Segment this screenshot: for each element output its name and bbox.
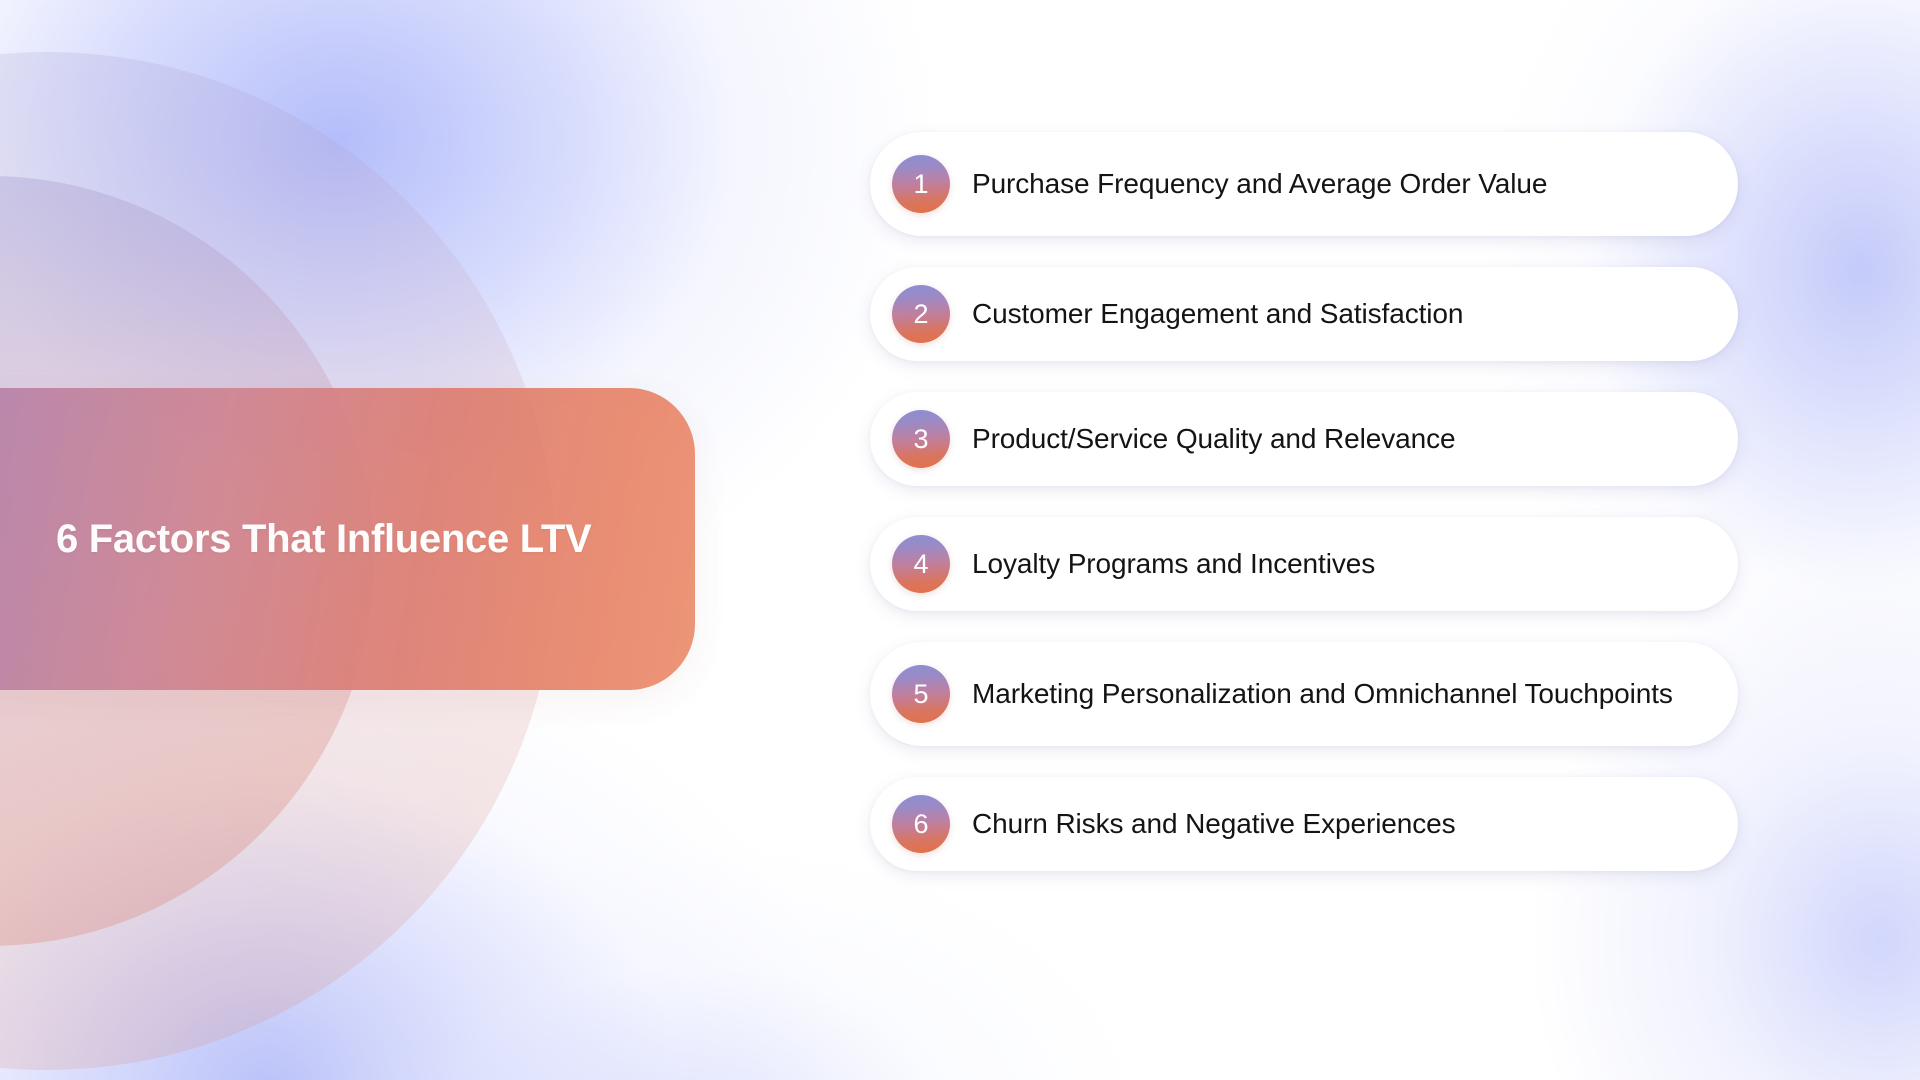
page-title: 6 Factors That Influence LTV xyxy=(0,517,591,562)
factor-number-badge-4: 4 xyxy=(892,535,950,593)
factor-label-6: Churn Risks and Negative Experiences xyxy=(972,806,1704,842)
factor-item-2[interactable]: 2 Customer Engagement and Satisfaction xyxy=(870,267,1738,361)
factor-number-badge-3: 3 xyxy=(892,410,950,468)
factor-item-4[interactable]: 4 Loyalty Programs and Incentives xyxy=(870,517,1738,611)
factor-item-1[interactable]: 1 Purchase Frequency and Average Order V… xyxy=(870,132,1738,236)
background-glow-bottom-center xyxy=(250,840,1150,1080)
factor-label-1: Purchase Frequency and Average Order Val… xyxy=(972,166,1704,202)
factor-label-2: Customer Engagement and Satisfaction xyxy=(972,296,1704,332)
factor-list: 1 Purchase Frequency and Average Order V… xyxy=(870,132,1738,871)
factor-number-badge-1: 1 xyxy=(892,155,950,213)
factor-item-5[interactable]: 5 Marketing Personalization and Omnichan… xyxy=(870,642,1738,746)
factor-label-3: Product/Service Quality and Relevance xyxy=(972,421,1704,457)
factor-label-4: Loyalty Programs and Incentives xyxy=(972,546,1704,582)
factor-number-badge-2: 2 xyxy=(892,285,950,343)
factor-number-badge-6: 6 xyxy=(892,795,950,853)
infographic-canvas: 6 Factors That Influence LTV 1 Purchase … xyxy=(0,0,1920,1080)
factor-item-6[interactable]: 6 Churn Risks and Negative Experiences xyxy=(870,777,1738,871)
factor-number-badge-5: 5 xyxy=(892,665,950,723)
factor-label-5: Marketing Personalization and Omnichanne… xyxy=(972,676,1704,712)
title-banner: 6 Factors That Influence LTV xyxy=(0,388,695,690)
background-glow-bottom-left xyxy=(0,640,850,1080)
factor-item-3[interactable]: 3 Product/Service Quality and Relevance xyxy=(870,392,1738,486)
